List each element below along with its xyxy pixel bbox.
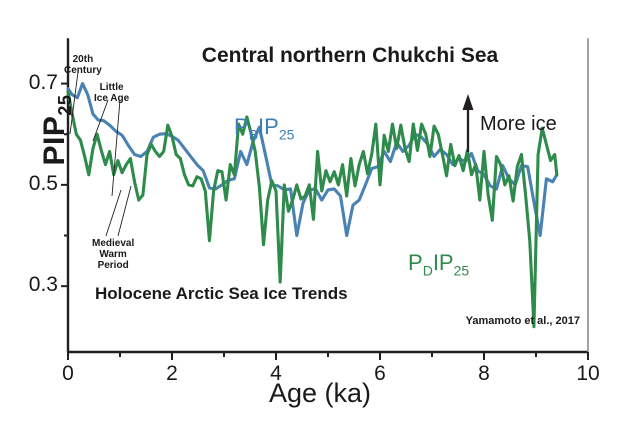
x-tick-label-2: 2 (152, 362, 192, 386)
x-tick-label-layer: 0246810 (0, 0, 640, 425)
x-tick-label-10: 10 (568, 362, 608, 386)
x-tick-label-4: 4 (256, 362, 296, 386)
x-tick-label-6: 6 (360, 362, 400, 386)
x-tick-label-8: 8 (464, 362, 504, 386)
x-tick-label-0: 0 (48, 362, 88, 386)
chart-figure: Central northern Chukchi Sea Holocene Ar… (0, 0, 640, 425)
